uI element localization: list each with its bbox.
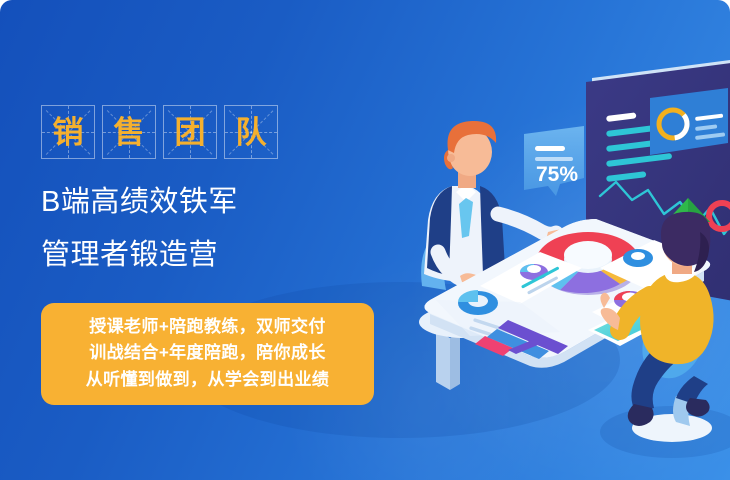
grid-char: 团 [164, 106, 216, 158]
grid-char: 销 [42, 106, 94, 158]
page-title: B端高绩效铁军 管理者锻造营 [41, 188, 238, 270]
kpi-badge-value: 75% [536, 163, 578, 186]
grid-cell-0: 销 [41, 105, 95, 159]
promo-banner: 75% [0, 0, 730, 480]
grid-char: 队 [225, 106, 277, 158]
grid-cell-2: 团 [163, 105, 217, 159]
callout-line-1: 授课老师+陪跑教练，双师交付 [41, 314, 374, 340]
headline-line-2: 管理者锻造营 [41, 241, 238, 270]
kpi-badge-75: 75% [524, 126, 584, 196]
headline-line-1: B端高绩效铁军 [41, 186, 238, 218]
grid-char: 售 [103, 106, 155, 158]
grid-cell-3: 队 [224, 105, 278, 159]
grid-cell-1: 售 [102, 105, 156, 159]
callout-line-2: 训战结合+年度陪跑，陪你成长 [41, 340, 374, 366]
callout-line-3: 从听懂到做到，从学会到出业绩 [41, 367, 374, 393]
highlights-callout: 授课老师+陪跑教练，双师交付 训战结合+年度陪跑，陪你成长 从听懂到做到，从学会… [41, 303, 374, 405]
grid-word: 销 售 团 队 [41, 105, 278, 159]
